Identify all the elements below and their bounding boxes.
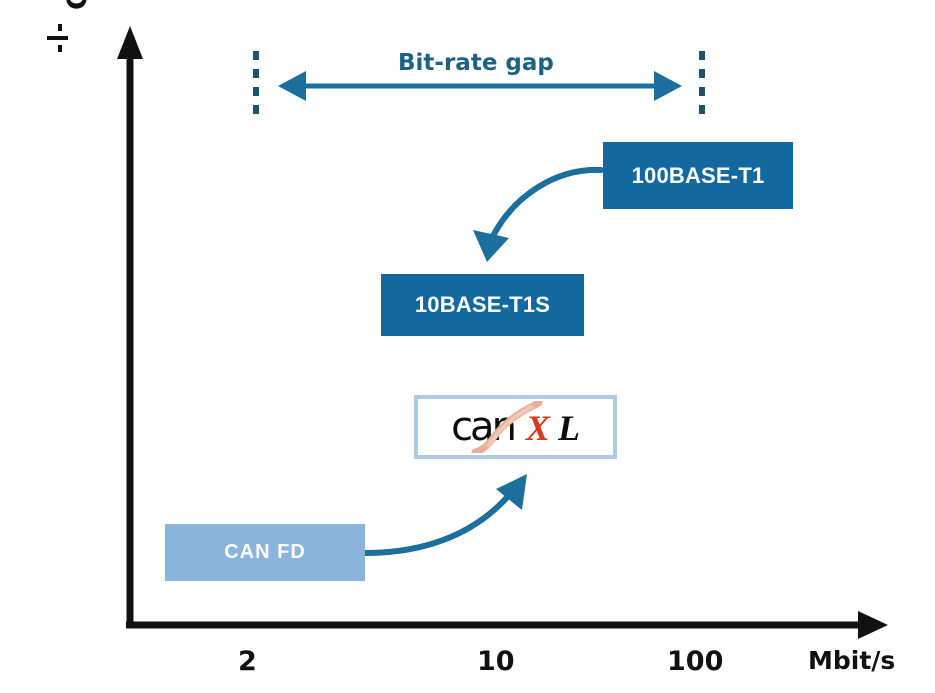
y-axis-label: Cost — [62, 0, 93, 10]
node-can-xl[interactable]: can X L — [414, 395, 617, 459]
node-100base-t1-label: 100BASE-T1 — [632, 163, 765, 189]
connector-canfd-to-canxl-arrow — [365, 474, 527, 553]
node-can-fd[interactable]: CAN FD — [165, 524, 365, 581]
node-10base-t1s[interactable]: 10BASE-T1S — [381, 274, 584, 336]
diagram-vector-layer — [0, 0, 935, 693]
can-xl-logo-x-text: X — [526, 410, 550, 446]
node-10base-t1s-label: 10BASE-T1S — [415, 292, 550, 318]
x-axis-unit-label: Mbit/s — [808, 646, 895, 675]
diagram-canvas: Cost Bit-rate gap 100BASE-T1 10BASE-T1S … — [0, 0, 935, 693]
y-axis-tick-marker — [47, 24, 68, 52]
can-xl-logo: can X L — [451, 407, 580, 447]
x-axis — [126, 611, 888, 639]
node-100base-t1[interactable]: 100BASE-T1 — [603, 142, 793, 209]
x-axis-tick-2: 2 — [238, 646, 257, 677]
can-xl-logo-can-text: can — [451, 407, 514, 447]
connector-t1-to-t1s-arrow — [473, 170, 601, 262]
bit-rate-gap-label: Bit-rate gap — [398, 50, 554, 76]
x-axis-tick-10: 10 — [477, 646, 515, 677]
y-axis — [117, 26, 143, 628]
node-can-fd-label: CAN FD — [224, 541, 306, 564]
x-axis-tick-100: 100 — [667, 646, 723, 677]
can-xl-logo-l-text: L — [558, 410, 580, 446]
